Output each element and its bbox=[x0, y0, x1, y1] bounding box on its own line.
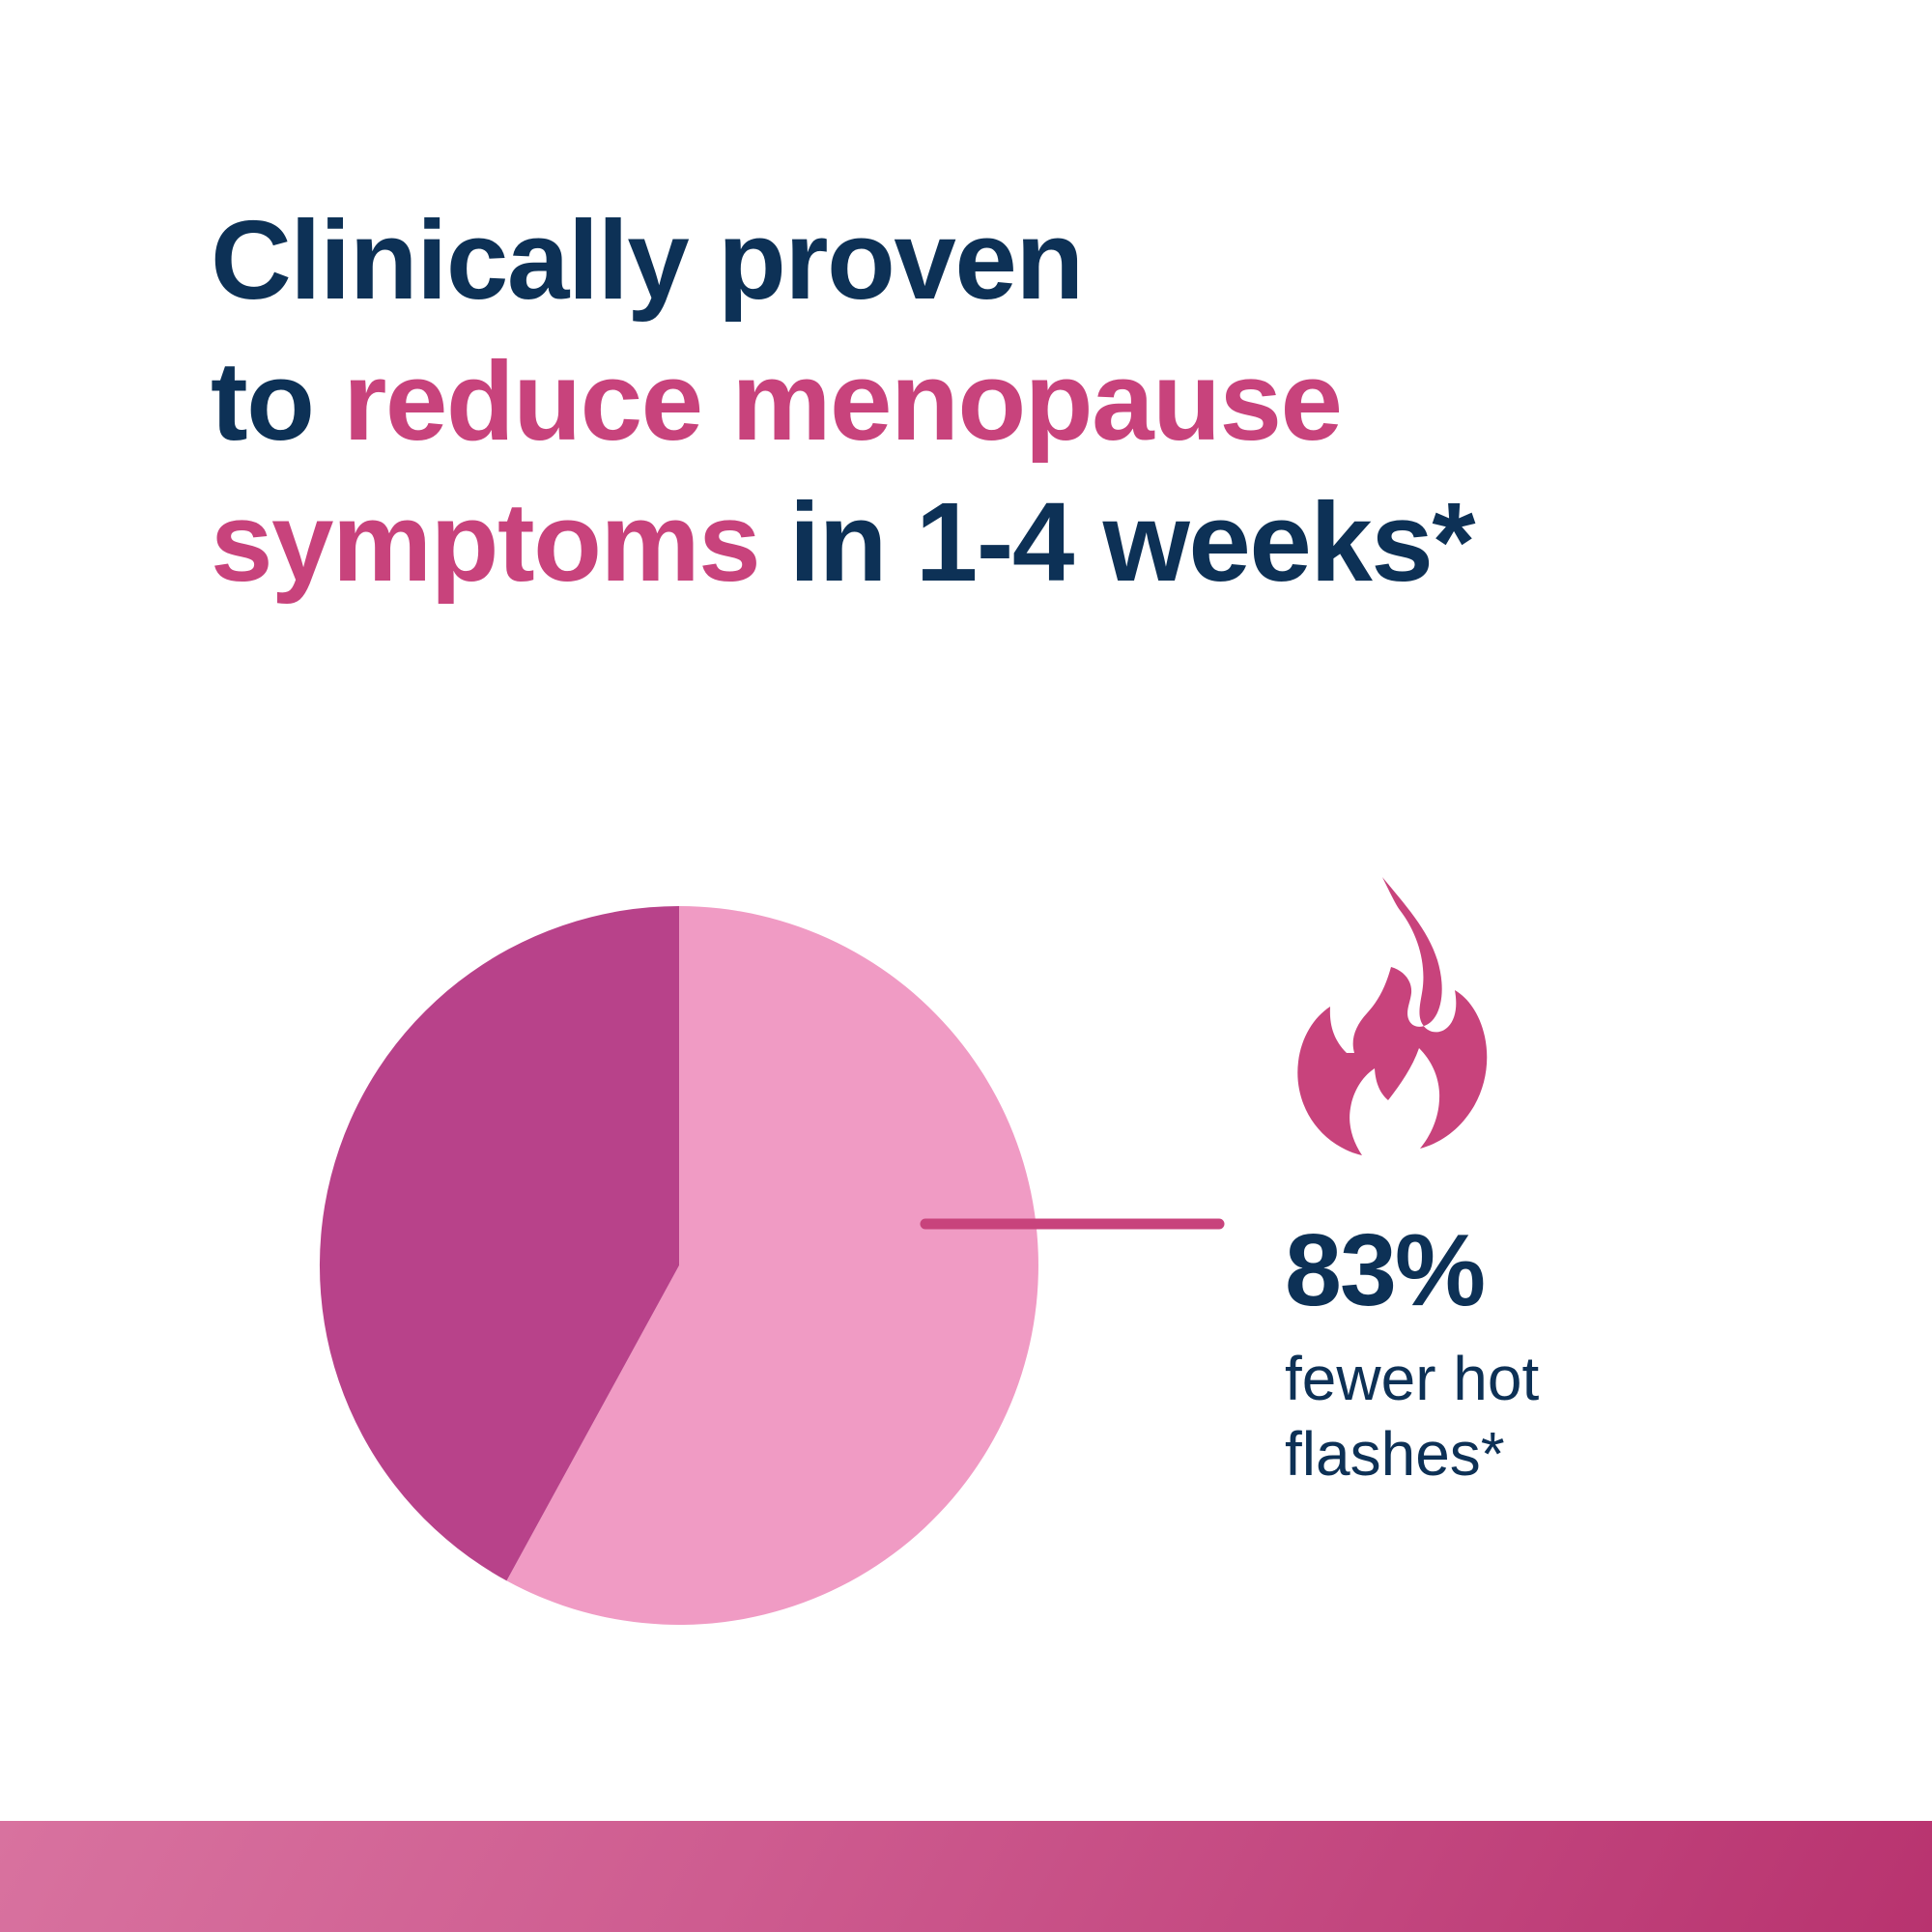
infographic-canvas: Clinically proven to reduce menopause sy… bbox=[0, 0, 1932, 1932]
headline-line-1: Clinically proven bbox=[211, 189, 1853, 330]
headline-line-2-pink: reduce menopause bbox=[343, 338, 1341, 464]
headline-line-3-navy: in 1-4 weeks* bbox=[759, 479, 1474, 605]
callout-stat-value: 83% bbox=[1285, 1219, 1690, 1321]
callout-description: fewer hot flashes* bbox=[1285, 1341, 1690, 1492]
pie-chart bbox=[319, 905, 1039, 1626]
headline-line-2: to reduce menopause bbox=[211, 330, 1853, 471]
page-title: Clinically proven to reduce menopause sy… bbox=[211, 189, 1853, 612]
callout-description-line-2: flashes* bbox=[1285, 1416, 1690, 1492]
flame-icon bbox=[1291, 869, 1498, 1159]
callout-block: 83% fewer hot flashes* bbox=[1285, 869, 1690, 1492]
pie-chart-svg bbox=[319, 905, 1039, 1626]
callout-description-line-1: fewer hot bbox=[1285, 1341, 1690, 1416]
headline-line-3: symptoms in 1-4 weeks* bbox=[211, 471, 1853, 612]
headline-line-1-text: Clinically proven bbox=[211, 197, 1083, 323]
headline-line-3-pink: symptoms bbox=[211, 479, 759, 605]
bottom-gradient-bar bbox=[0, 1821, 1932, 1932]
callout-connector-line bbox=[918, 1212, 1227, 1236]
headline-line-2-navy: to bbox=[211, 338, 343, 464]
